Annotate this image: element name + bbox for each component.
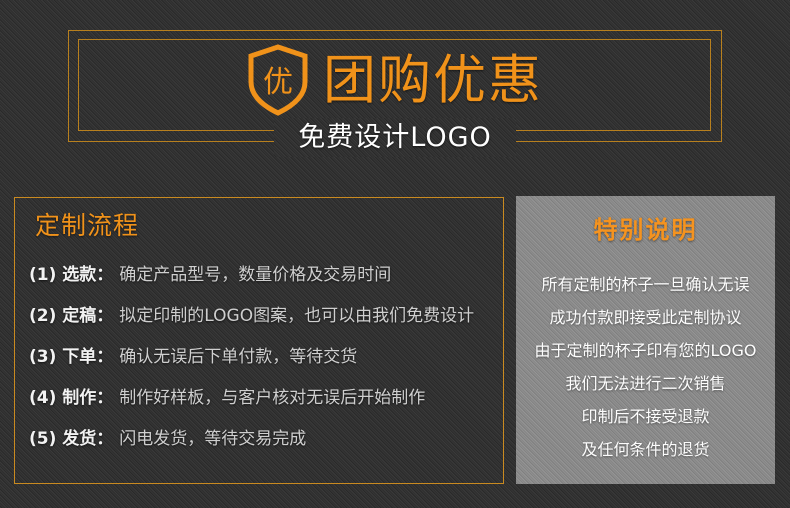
step-description: 拟定印制的LOGO图案，也可以由我们免费设计 [119,301,474,326]
notice-line: 成功付款即接受此定制协议 [516,301,775,334]
banner-header: 优 团购优惠 免费设计LOGO [0,0,790,180]
notice-panel-title: 特别说明 [516,218,775,242]
step-description: 闪电发货，等待交易完成 [119,424,306,449]
notice-line: 及任何条件的退货 [516,433,775,466]
notice-line: 由于定制的杯子印有您的LOGO [516,334,775,367]
page-title: 团购优惠 [323,54,543,107]
header-title-row: 优 团购优惠 [0,45,790,115]
process-step-list: (1) 选款： 确定产品型号，数量价格及交易时间 (2) 定稿： 拟定印制的LO… [29,260,495,465]
notice-line-list: 所有定制的杯子一旦确认无误 成功付款即接受此定制协议 由于定制的杯子印有您的LO… [516,268,775,466]
step-description: 确定产品型号，数量价格及交易时间 [119,260,391,285]
process-panel: 定制流程 (1) 选款： 确定产品型号，数量价格及交易时间 (2) 定稿： 拟定… [14,197,504,484]
notice-panel: 特别说明 所有定制的杯子一旦确认无误 成功付款即接受此定制协议 由于定制的杯子印… [516,196,775,484]
notice-line: 我们无法进行二次销售 [516,367,775,400]
header-subtitle: 免费设计LOGO [274,118,516,157]
list-item: (4) 制作： 制作好样板，与客户核对无误后开始制作 [29,383,495,424]
promo-banner: 优 团购优惠 免费设计LOGO 定制流程 (1) 选款： 确定产品型号，数量价格… [0,0,790,508]
list-item: (5) 发货： 闪电发货，等待交易完成 [29,424,495,465]
step-label: (1) 选款： [29,260,113,285]
notice-line: 印制后不接受退款 [516,400,775,433]
step-label: (3) 下单： [29,342,113,367]
step-description: 确认无误后下单付款，等待交货 [119,342,357,367]
notice-line: 所有定制的杯子一旦确认无误 [516,268,775,301]
list-item: (1) 选款： 确定产品型号，数量价格及交易时间 [29,260,495,301]
list-item: (2) 定稿： 拟定印制的LOGO图案，也可以由我们免费设计 [29,301,495,342]
step-label: (5) 发货： [29,424,113,449]
step-label: (4) 制作： [29,383,113,408]
shield-logo-char: 优 [263,65,293,100]
shield-logo-icon: 优 [247,44,309,116]
step-description: 制作好样板，与客户核对无误后开始制作 [119,383,425,408]
header-subtitle-row: 免费设计LOGO [0,116,790,158]
process-panel-title: 定制流程 [35,213,139,238]
list-item: (3) 下单： 确认无误后下单付款，等待交货 [29,342,495,383]
step-label: (2) 定稿： [29,301,113,326]
